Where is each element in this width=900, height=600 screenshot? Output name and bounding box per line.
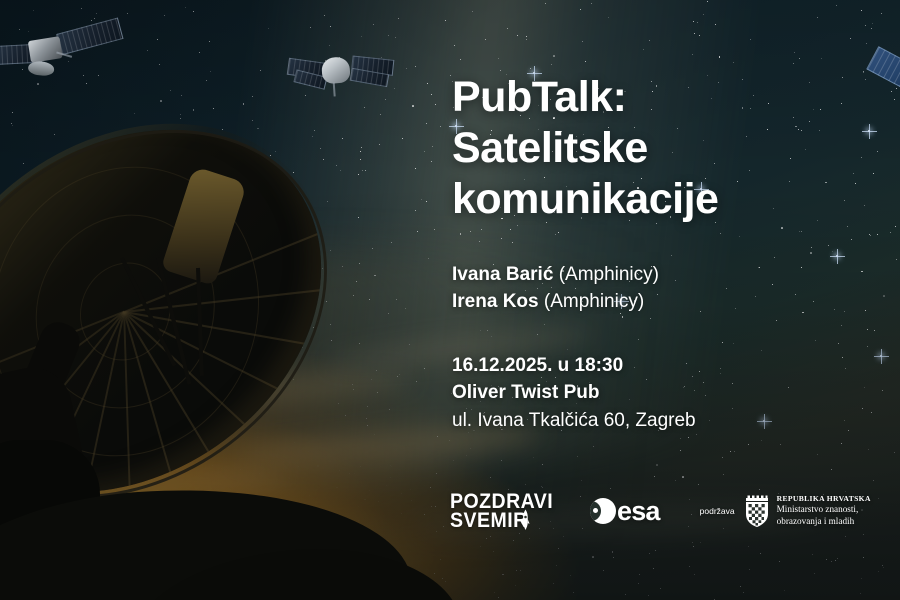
event-address: ul. Ivana Tkalčića 60, Zagreb xyxy=(452,407,882,435)
event-poster: PubTalk: Satelitske komunikacije Ivana B… xyxy=(0,0,900,600)
esa-wordmark: esa xyxy=(617,496,660,527)
esa-logo: esa xyxy=(590,496,660,527)
speakers-list: Ivana Barić (Amphinicy) Irena Kos (Amphi… xyxy=(452,262,882,316)
radio-telescope-silhouette xyxy=(0,140,400,600)
title-line-3: komunikacije xyxy=(452,178,882,221)
ministry-logo: podržava xyxy=(700,494,871,527)
ministry-line-2: Ministarstvo znanosti, xyxy=(777,504,871,516)
event-venue: Oliver Twist Pub xyxy=(452,379,882,407)
event-details: 16.12.2025. u 18:30 Oliver Twist Pub ul.… xyxy=(452,352,882,435)
poster-content: PubTalk: Satelitske komunikacije Ivana B… xyxy=(452,76,882,435)
title-line-1: PubTalk: xyxy=(452,76,882,119)
speaker-name: Irena Kos xyxy=(452,291,539,312)
speaker-item: Irena Kos (Amphinicy) xyxy=(452,289,882,316)
croatia-coat-of-arms-icon xyxy=(744,495,770,527)
esa-emblem-icon xyxy=(590,498,616,524)
pozdravi-svemir-logo: POZDRAVI SVEMIR xyxy=(450,492,562,531)
ministry-line-3: obrazovanja i mladih xyxy=(777,516,871,528)
speaker-org: (Amphinicy) xyxy=(544,291,644,312)
speaker-name: Ivana Barić xyxy=(452,264,553,285)
support-label: podržava xyxy=(700,506,735,516)
ministry-line-1: REPUBLIKA HRVATSKA xyxy=(777,494,871,504)
speaker-item: Ivana Barić (Amphinicy) xyxy=(452,262,882,289)
pozdravi-svemir-line-2: SVEMIR xyxy=(450,511,554,530)
sponsor-logo-row: POZDRAVI SVEMIR esa podržava xyxy=(450,487,890,535)
satellite-icon xyxy=(286,40,394,103)
ministry-text-block: REPUBLIKA HRVATSKA Ministarstvo znanosti… xyxy=(777,494,871,527)
rocket-icon xyxy=(521,509,530,531)
page-title: PubTalk: Satelitske komunikacije xyxy=(452,76,882,221)
speaker-org: (Amphinicy) xyxy=(559,264,659,285)
title-line-2: Satelitske xyxy=(452,127,882,170)
event-datetime: 16.12.2025. u 18:30 xyxy=(452,352,882,380)
